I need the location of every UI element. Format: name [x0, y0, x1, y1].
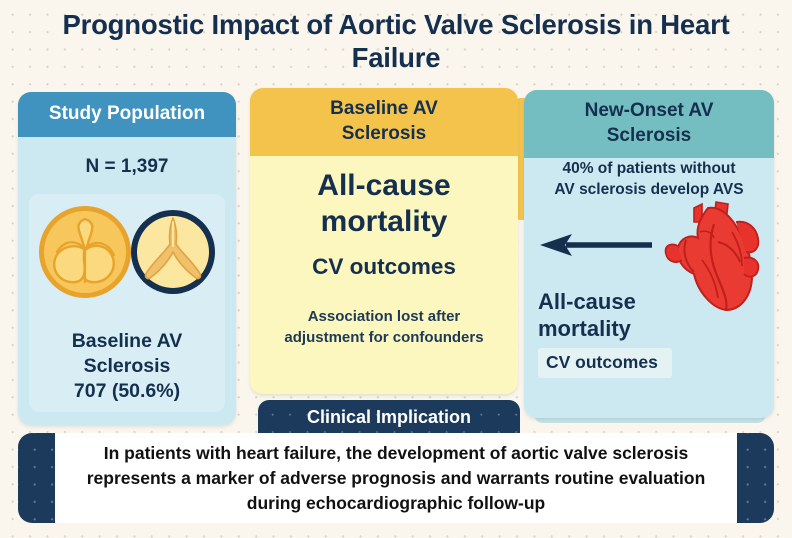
panel-new-onset-av-sclerosis-header: New-Onset AV Sclerosis: [524, 90, 774, 158]
statistic-line-1: 40% of patients without: [530, 158, 768, 179]
note-line-2: adjustment for confounders: [260, 327, 508, 348]
new-onset-primary-outcome: All-cause mortality: [538, 288, 698, 342]
closed-aortic-valve-icon: [39, 206, 131, 298]
panel-baseline-av-sclerosis: Baseline AV Sclerosis All-cause mortalit…: [250, 88, 518, 394]
aortic-valve-illustrations: [29, 202, 225, 302]
header-line-1: New-Onset AV: [530, 98, 768, 123]
clinical-implication-tab: Clinical Implication: [258, 400, 520, 436]
page-title: Prognostic Impact of Aortic Valve Sclero…: [40, 8, 752, 74]
panel-new-onset-av-sclerosis: New-Onset AV Sclerosis 40% of patients w…: [524, 90, 774, 418]
header-line-2: Sclerosis: [530, 123, 768, 148]
panel-baseline-av-sclerosis-header: Baseline AV Sclerosis: [250, 88, 518, 156]
primary-line-1: All-cause: [250, 168, 518, 204]
infographic-canvas: Prognostic Impact of Aortic Valve Sclero…: [0, 0, 792, 538]
new-onset-statistic: 40% of patients without AV sclerosis dev…: [530, 158, 768, 200]
statistic-line-2: AV sclerosis develop AVS: [530, 179, 768, 200]
primary-line-1: All-cause: [538, 288, 698, 315]
open-aortic-valve-icon: [131, 210, 215, 294]
baseline-av-sclerosis-caption: Baseline AV Sclerosis 707 (50.6%): [29, 329, 225, 404]
valve-illustration-box: Baseline AV Sclerosis 707 (50.6%): [29, 194, 225, 412]
baseline-primary-outcome: All-cause mortality: [250, 168, 518, 240]
caption-line-3: 707 (50.6%): [29, 379, 225, 404]
clinical-implication-text: In patients with heart failure, the deve…: [81, 441, 711, 516]
baseline-adjustment-note: Association lost after adjustment for co…: [260, 306, 508, 348]
panel-study-population-header: Study Population: [18, 92, 236, 137]
clinical-implication-container: In patients with heart failure, the deve…: [18, 433, 774, 523]
baseline-secondary-outcome: CV outcomes: [250, 254, 518, 280]
panel-study-population: Study Population N = 1,397: [18, 92, 236, 425]
new-onset-secondary-outcome: CV outcomes: [538, 348, 672, 378]
left-arrow-icon: [538, 230, 654, 260]
primary-line-2: mortality: [538, 315, 698, 342]
header-line-1: Baseline AV: [256, 96, 512, 121]
caption-line-2: Sclerosis: [29, 354, 225, 379]
header-line-2: Sclerosis: [256, 121, 512, 146]
clinical-implication-panel: In patients with heart failure, the deve…: [55, 433, 737, 523]
sample-size-label: N = 1,397: [18, 156, 236, 178]
caption-line-1: Baseline AV: [29, 329, 225, 354]
primary-line-2: mortality: [250, 204, 518, 240]
note-line-1: Association lost after: [260, 306, 508, 327]
